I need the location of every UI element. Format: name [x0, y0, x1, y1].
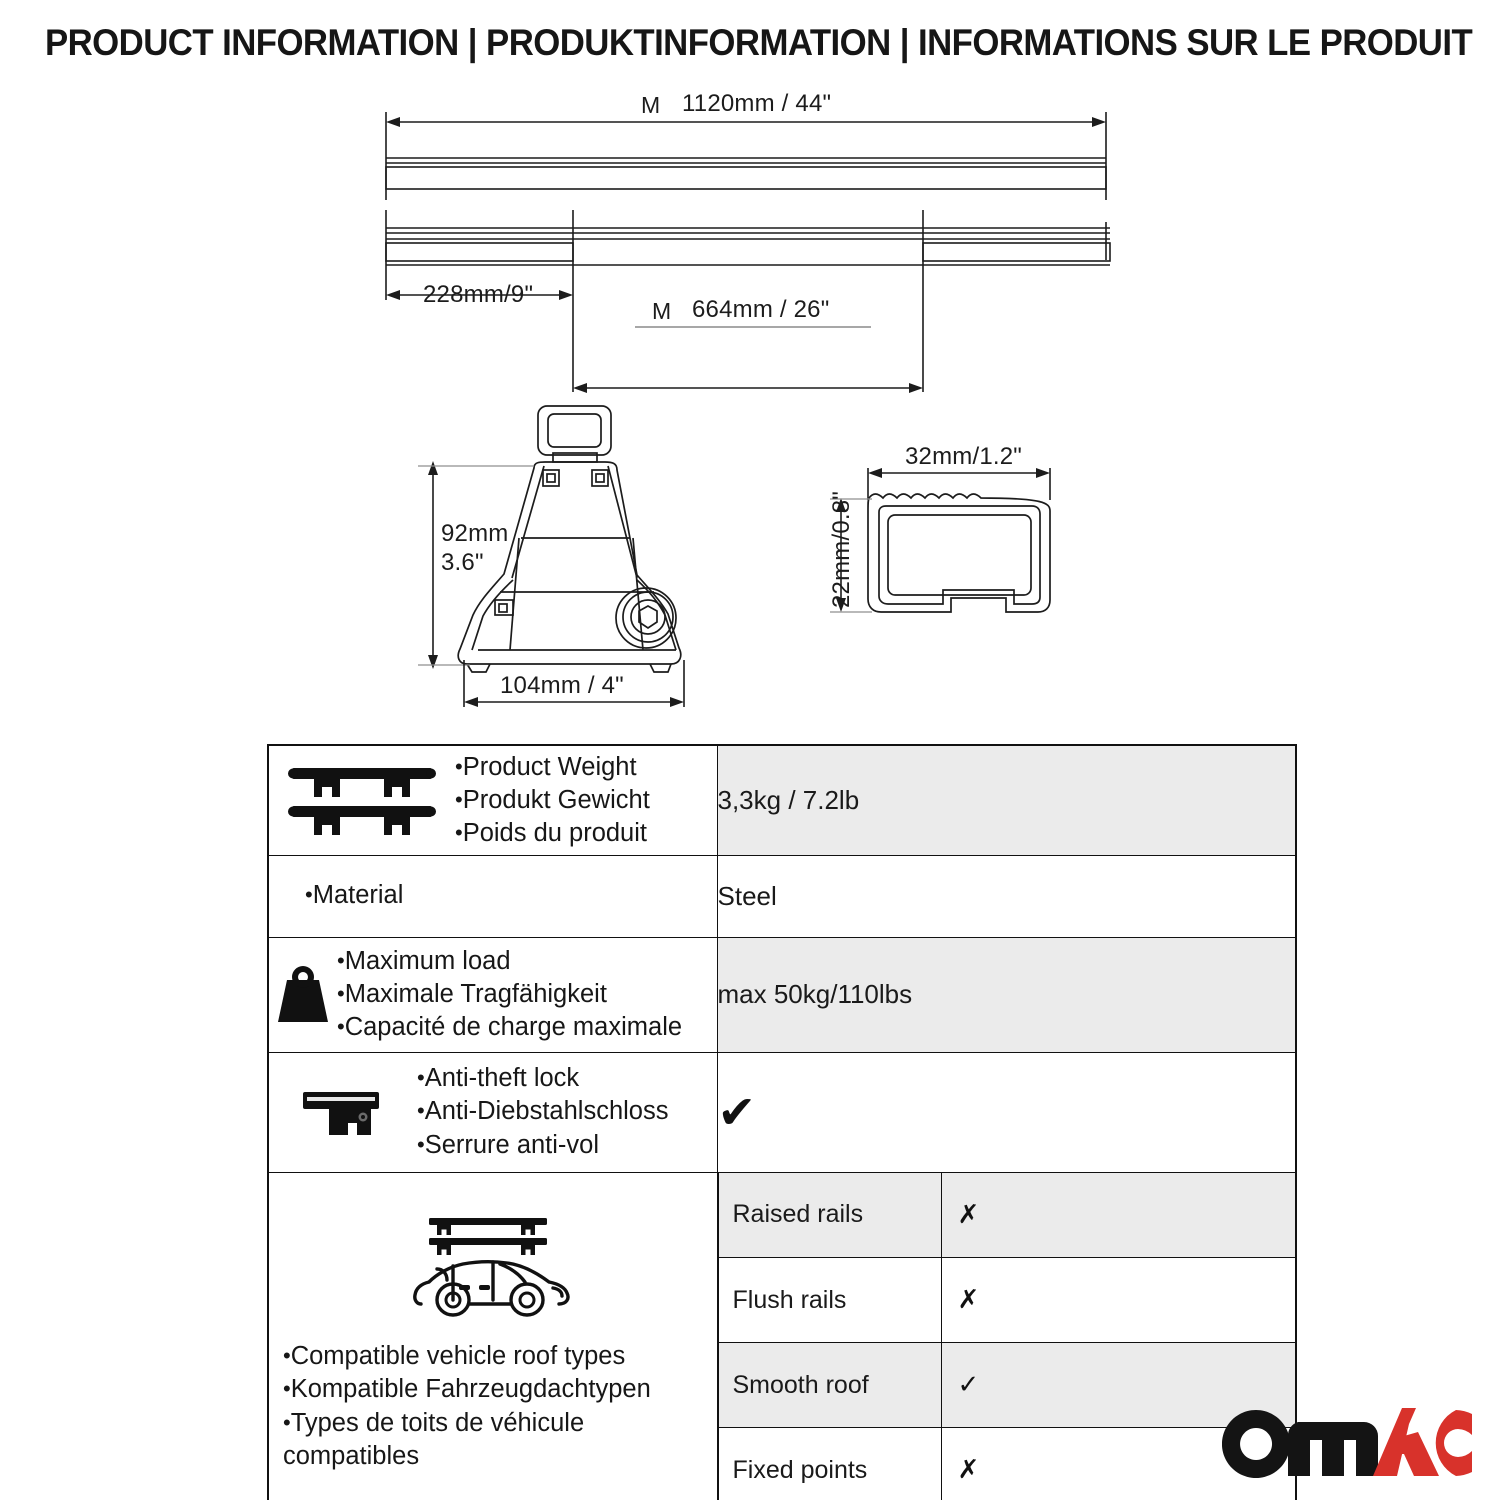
- logo-letter-c: [1436, 1410, 1472, 1476]
- roof-type-value: ✗: [941, 1173, 1295, 1258]
- row-label: Kompatible Fahrzeugdachtypen: [291, 1375, 651, 1403]
- crossbars-pair-icon: [269, 762, 455, 838]
- omac-logo-svg: [1222, 1404, 1472, 1478]
- row-label-cell-rooftypes: •Compatible vehicle roof types •Kompatib…: [268, 1172, 717, 1500]
- bar-spread-label: 664mm / 26": [692, 296, 829, 324]
- technical-drawings: M 1120mm / 44" 228mm/9" M 664mm / 26" 92…: [0, 0, 1500, 740]
- foot-width-label: 104mm / 4": [500, 672, 624, 700]
- cross-icon: ✗: [958, 1285, 980, 1315]
- row-label: Produkt Gewicht: [463, 786, 650, 814]
- logo-letter-o: [1222, 1410, 1290, 1478]
- table-row: •Product Weight •Produkt Gewicht •Poids …: [268, 745, 1296, 855]
- check-icon: ✓: [958, 1370, 980, 1400]
- row-label: Serrure anti-vol: [425, 1131, 599, 1159]
- row-label: Product Weight: [463, 753, 637, 781]
- roof-type-name: Fixed points: [718, 1428, 941, 1500]
- roof-type-row: Smooth roof ✓: [718, 1343, 1295, 1428]
- bar-spread-marker: M: [652, 298, 671, 325]
- row-labels-maxload: •Maximum load •Maximale Tragfähigkeit •C…: [337, 945, 682, 1044]
- roof-type-row: Fixed points ✗: [718, 1428, 1295, 1500]
- row-label: Poids du produit: [463, 819, 647, 847]
- lock-icon: [269, 1084, 417, 1140]
- row-label: Material: [313, 881, 404, 909]
- table-row: •Anti-theft lock •Anti-Diebstahlschloss …: [268, 1052, 1296, 1172]
- table-row: •Maximum load •Maximale Tragfähigkeit •C…: [268, 937, 1296, 1052]
- check-mark-icon: ✔: [718, 1085, 757, 1139]
- foot-height-label-mm: 92mm: [441, 520, 508, 548]
- bar-length-marker: M: [641, 92, 660, 119]
- car-with-rack-icon: [281, 1212, 711, 1330]
- foot-height-label-in: 3.6": [441, 549, 484, 577]
- specification-table: •Product Weight •Produkt Gewicht •Poids …: [267, 744, 1297, 1500]
- row-labels-material: •Material: [305, 879, 403, 912]
- cross-icon: ✗: [958, 1455, 980, 1485]
- row-label: Anti-Diebstahlschloss: [425, 1097, 669, 1125]
- row-labels-weight: •Product Weight •Produkt Gewicht •Poids …: [455, 751, 650, 850]
- roof-types-cell: Raised rails ✗ Flush rails ✗ Smooth roof…: [717, 1172, 1296, 1500]
- row-label: Maximale Tragfähigkeit: [345, 980, 607, 1008]
- row-label: Anti-theft lock: [425, 1064, 579, 1092]
- row-labels-rooftypes: •Compatible vehicle roof types •Kompatib…: [281, 1340, 653, 1473]
- cross-icon: ✗: [958, 1200, 980, 1230]
- row-label-cell-weight: •Product Weight •Produkt Gewicht •Poids …: [268, 745, 717, 855]
- product-information-sheet: PRODUCT INFORMATION | PRODUKTINFORMATION…: [0, 0, 1500, 1500]
- roof-type-value: ✗: [941, 1258, 1295, 1343]
- omac-logo: [1222, 1404, 1472, 1478]
- bar-end-offset-label: 228mm/9": [423, 281, 533, 309]
- profile-width-label: 32mm/1.2": [905, 443, 1022, 471]
- logo-letter-m: [1288, 1422, 1378, 1476]
- roof-type-name: Flush rails: [718, 1258, 941, 1343]
- roof-type-name: Smooth roof: [718, 1343, 941, 1428]
- row-label: Compatible vehicle roof types: [291, 1342, 626, 1370]
- logo-letter-a: [1373, 1408, 1439, 1476]
- profile-height-label: 22mm/0.8": [828, 491, 856, 608]
- table-row: •Material Steel: [268, 855, 1296, 937]
- row-value-weight: 3,3kg / 7.2lb: [717, 745, 1296, 855]
- row-labels-lock: •Anti-theft lock •Anti-Diebstahlschloss …: [417, 1062, 668, 1161]
- row-label: Types de toits de véhicule compatibles: [283, 1409, 584, 1470]
- row-label: Maximum load: [345, 947, 511, 975]
- row-label-cell-maxload: •Maximum load •Maximale Tragfähigkeit •C…: [268, 937, 717, 1052]
- row-label-cell-lock: •Anti-theft lock •Anti-Diebstahlschloss …: [268, 1052, 717, 1172]
- bar-length-label: 1120mm / 44": [682, 90, 831, 118]
- row-value-material: Steel: [717, 855, 1296, 937]
- roof-type-name: Raised rails: [718, 1173, 941, 1258]
- row-label-cell-material: •Material: [268, 855, 717, 937]
- table-row: •Compatible vehicle roof types •Kompatib…: [268, 1172, 1296, 1500]
- roof-types-table: Raised rails ✗ Flush rails ✗ Smooth roof…: [718, 1173, 1296, 1500]
- row-label: Capacité de charge maximale: [345, 1013, 682, 1041]
- row-value-maxload: max 50kg/110lbs: [717, 937, 1296, 1052]
- roof-type-row: Flush rails ✗: [718, 1258, 1295, 1343]
- roof-type-row: Raised rails ✗: [718, 1173, 1295, 1258]
- weight-icon: [269, 962, 337, 1026]
- row-value-lock: ✔: [717, 1052, 1296, 1172]
